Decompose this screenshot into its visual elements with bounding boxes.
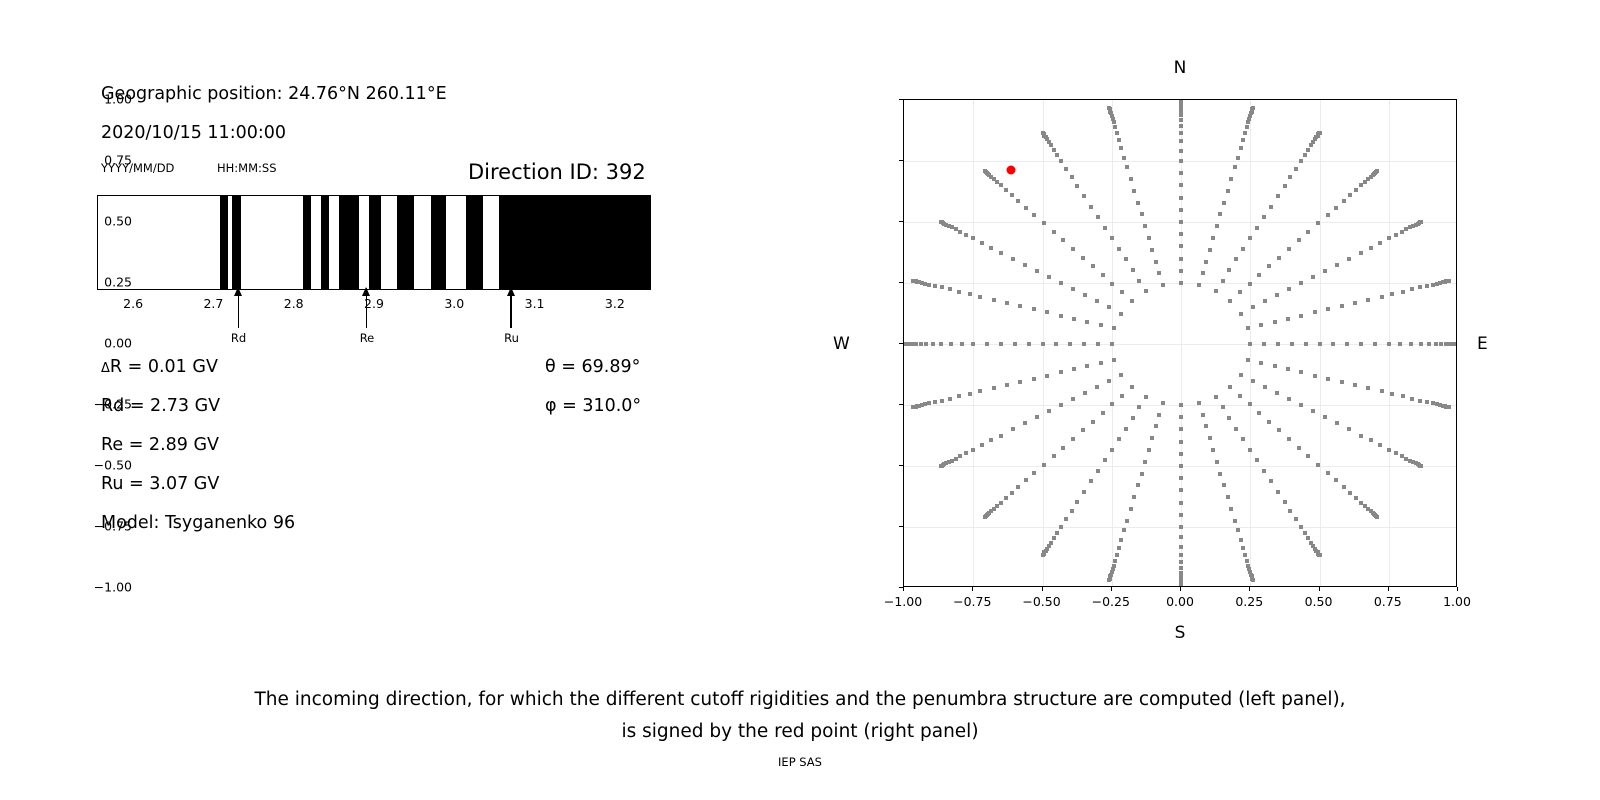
- direction-point: [1061, 238, 1065, 242]
- direction-point: [1042, 463, 1046, 467]
- direction-point: [1117, 546, 1121, 550]
- sky-map-y-tick-mark: [899, 526, 903, 527]
- direction-point: [1267, 264, 1271, 268]
- direction-point: [1353, 301, 1357, 305]
- direction-point: [1110, 448, 1114, 452]
- direction-point: [1275, 391, 1279, 395]
- direction-point: [1342, 485, 1346, 489]
- direction-point: [1179, 269, 1183, 273]
- sky-map-y-tick-label: −0.25: [94, 397, 132, 412]
- sky-map-x-tick-mark: [1457, 587, 1458, 591]
- direction-point: [1179, 566, 1183, 570]
- direction-point: [1179, 464, 1183, 468]
- direction-point: [1311, 409, 1315, 413]
- direction-point: [1340, 304, 1344, 308]
- sky-map-y-tick-mark: [899, 404, 903, 405]
- sky-map-y-tick-mark: [899, 99, 903, 100]
- direction-point: [1294, 517, 1298, 521]
- direction-point: [1103, 226, 1107, 230]
- direction-point: [1125, 165, 1129, 169]
- direction-point: [1316, 463, 1320, 467]
- figure-caption: The incoming direction, for which the di…: [0, 684, 1600, 748]
- direction-point: [1387, 448, 1391, 452]
- direction-point: [999, 183, 1003, 187]
- direction-point: [1179, 488, 1183, 492]
- direction-point: [1334, 206, 1338, 210]
- sky-map-x-tick-label: −0.50: [1022, 594, 1060, 609]
- direction-point: [1419, 342, 1423, 346]
- direction-point: [1226, 189, 1230, 193]
- direction-point: [1255, 226, 1259, 230]
- direction-point: [1024, 206, 1028, 210]
- direction-point: [1099, 361, 1103, 365]
- direction-point: [948, 397, 952, 401]
- direction-point: [1110, 402, 1114, 406]
- direction-point: [1120, 290, 1124, 294]
- direction-point: [1243, 131, 1247, 135]
- direction-point: [1144, 289, 1148, 293]
- direction-point: [1179, 452, 1183, 456]
- direction-point: [1243, 553, 1247, 557]
- caption-line-1: The incoming direction, for which the di…: [0, 684, 1600, 716]
- direction-point: [983, 515, 987, 519]
- direction-point: [1287, 247, 1291, 251]
- direction-point: [1083, 391, 1087, 395]
- direction-point: [1032, 377, 1036, 381]
- direction-point: [1016, 485, 1020, 489]
- direction-point: [1115, 131, 1119, 135]
- direction-point: [989, 246, 993, 250]
- direction-point: [1032, 307, 1036, 311]
- direction-point: [1306, 148, 1310, 152]
- direction-point: [1147, 236, 1151, 240]
- direction-point: [1179, 244, 1183, 248]
- direction-point: [1239, 312, 1243, 316]
- direction-point: [939, 464, 943, 468]
- direction-point: [940, 399, 944, 403]
- direction-point: [1299, 281, 1303, 285]
- direction-point: [957, 290, 961, 294]
- direction-point: [1380, 389, 1384, 393]
- direction-point: [1290, 342, 1294, 346]
- direction-point: [1390, 392, 1394, 396]
- direction-point: [1201, 271, 1205, 275]
- direction-point: [1091, 420, 1095, 424]
- direction-point: [1239, 146, 1243, 150]
- direction-point: [1251, 379, 1255, 383]
- direction-point: [1400, 230, 1404, 234]
- direction-point: [1179, 159, 1183, 163]
- direction-point: [1144, 395, 1148, 399]
- direction-point: [1113, 125, 1117, 129]
- direction-point: [1140, 472, 1144, 476]
- sky-map-x-tick-mark: [1388, 587, 1389, 591]
- direction-point: [1047, 409, 1051, 413]
- direction-point: [1045, 310, 1049, 314]
- direction-point: [1179, 525, 1183, 529]
- direction-point: [1218, 472, 1222, 476]
- direction-point: [1245, 559, 1249, 563]
- direction-point: [1218, 212, 1222, 216]
- direction-point: [1353, 383, 1357, 387]
- direction-point: [1299, 403, 1303, 407]
- selected-direction-marker[interactable]: [1006, 165, 1015, 174]
- direction-point: [939, 342, 943, 346]
- direction-point: [1041, 131, 1045, 135]
- direction-point: [939, 220, 943, 224]
- sky-map-x-tick-mark: [1319, 587, 1320, 591]
- direction-point: [1294, 167, 1298, 171]
- direction-point: [1262, 469, 1266, 473]
- direction-point: [1304, 342, 1308, 346]
- direction-point: [1081, 256, 1085, 260]
- direction-point: [1434, 342, 1438, 346]
- direction-point: [1222, 483, 1226, 487]
- direction-point: [978, 389, 982, 393]
- direction-point: [1326, 307, 1330, 311]
- direction-point: [1150, 248, 1154, 252]
- direction-point: [1023, 421, 1027, 425]
- direction-point: [1122, 528, 1126, 532]
- direction-point: [1255, 458, 1259, 462]
- direction-point: [1130, 299, 1134, 303]
- direction-point: [1375, 515, 1379, 519]
- direction-point: [968, 292, 972, 296]
- direction-point: [1179, 427, 1183, 431]
- direction-point: [1287, 287, 1291, 291]
- direction-point: [1131, 268, 1135, 272]
- direction-point: [1064, 167, 1068, 171]
- direction-point: [1107, 379, 1111, 383]
- direction-point: [1096, 215, 1100, 219]
- direction-point: [1083, 293, 1087, 297]
- direction-point: [983, 169, 987, 173]
- direction-point: [1179, 171, 1183, 175]
- sky-map-x-tick-label: 0.00: [1166, 594, 1194, 609]
- direction-point: [1288, 509, 1292, 513]
- direction-point: [1137, 405, 1141, 409]
- direction-point: [1306, 454, 1310, 458]
- direction-point: [1326, 471, 1330, 475]
- sky-map-x-tick-mark: [1111, 587, 1112, 591]
- direction-point: [1157, 271, 1161, 275]
- direction-point: [1179, 208, 1183, 212]
- direction-point: [923, 282, 927, 286]
- direction-point: [1318, 553, 1322, 557]
- direction-point: [1248, 402, 1252, 406]
- direction-point: [1052, 454, 1056, 458]
- direction-point: [1117, 138, 1121, 142]
- direction-point: [992, 298, 996, 302]
- direction-point: [1208, 248, 1212, 252]
- direction-point: [1113, 559, 1117, 563]
- direction-point: [1340, 380, 1344, 384]
- direction-point: [1101, 411, 1105, 415]
- direction-point: [1378, 241, 1382, 245]
- direction-point: [1089, 205, 1093, 209]
- direction-point: [1179, 415, 1183, 419]
- direction-point: [1085, 320, 1089, 324]
- sky-map-x-tick-mark: [1180, 587, 1181, 591]
- direction-point: [1072, 367, 1076, 371]
- direction-point: [1124, 427, 1128, 431]
- direction-point: [1005, 383, 1009, 387]
- sky-map-x-tick-mark: [1042, 587, 1043, 591]
- direction-point: [1095, 385, 1099, 389]
- direction-point: [1263, 385, 1267, 389]
- direction-point: [1107, 106, 1111, 110]
- direction-point: [1179, 124, 1183, 128]
- sky-map-y-tick-label: −0.75: [94, 519, 132, 534]
- direction-point: [1011, 257, 1015, 261]
- direction-point: [1075, 184, 1079, 188]
- direction-point: [1095, 299, 1099, 303]
- direction-point: [1228, 385, 1232, 389]
- direction-point: [1276, 490, 1280, 494]
- direction-point: [1366, 386, 1370, 390]
- direction-point: [1204, 260, 1208, 264]
- direction-point: [1179, 501, 1183, 505]
- direction-point: [1227, 268, 1231, 272]
- direction-point: [1059, 314, 1063, 318]
- direction-point: [1011, 427, 1015, 431]
- direction-point: [1348, 491, 1352, 495]
- sky-map-y-tick-label: 0.25: [104, 275, 132, 290]
- direction-point: [1197, 283, 1201, 287]
- direction-point: [1010, 491, 1014, 495]
- direction-point: [1373, 342, 1377, 346]
- compass-north-label: N: [1174, 58, 1187, 78]
- direction-point: [1401, 394, 1405, 398]
- direction-point: [1234, 257, 1238, 261]
- direction-point: [1214, 289, 1218, 293]
- direction-point: [1410, 397, 1414, 401]
- direction-point: [1179, 257, 1183, 261]
- sky-map-x-tick-label: 0.50: [1305, 594, 1333, 609]
- direction-point: [1129, 507, 1133, 511]
- direction-point: [1018, 380, 1022, 384]
- direction-point: [1447, 279, 1451, 283]
- direction-point: [957, 394, 961, 398]
- direction-point: [1303, 153, 1307, 157]
- direction-point: [1131, 416, 1135, 420]
- direction-point: [1122, 156, 1126, 160]
- direction-point: [1032, 213, 1036, 217]
- direction-point: [949, 342, 953, 346]
- direction-point: [1311, 275, 1315, 279]
- direction-point: [1197, 401, 1201, 405]
- direction-point: [1241, 138, 1245, 142]
- sky-map-x-tick-mark: [1249, 587, 1250, 591]
- direction-point: [1179, 99, 1183, 102]
- direction-point: [1359, 434, 1363, 438]
- direction-point: [1323, 269, 1327, 273]
- direction-point: [992, 386, 996, 390]
- direction-point: [1061, 446, 1065, 450]
- direction-point: [958, 230, 962, 234]
- direction-point: [1273, 364, 1277, 368]
- direction-point: [1335, 263, 1339, 267]
- direction-point: [1380, 295, 1384, 299]
- direction-point: [1013, 342, 1017, 346]
- direction-point: [964, 451, 968, 455]
- direction-point: [1246, 358, 1250, 362]
- direction-point: [1112, 358, 1116, 362]
- direction-point: [1068, 342, 1072, 346]
- direction-point: [1004, 188, 1008, 192]
- direction-point: [1059, 159, 1063, 163]
- sky-map-x-tick-label: 1.00: [1443, 594, 1471, 609]
- direction-point: [1059, 525, 1063, 529]
- sky-map-x-tick-label: −0.25: [1092, 594, 1130, 609]
- sky-map-x-tick-label: −1.00: [884, 594, 922, 609]
- direction-point: [1359, 342, 1363, 346]
- sky-map-panel: −1.00−0.75−0.50−0.250.000.250.500.751.00…: [0, 0, 1600, 660]
- direction-point: [971, 342, 975, 346]
- direction-point: [1115, 553, 1119, 557]
- direction-point: [1136, 201, 1140, 205]
- sky-map-y-tick-mark: [899, 343, 903, 344]
- direction-point: [1369, 246, 1373, 250]
- direction-point: [1226, 495, 1230, 499]
- direction-point: [1342, 199, 1346, 203]
- direction-point: [1179, 403, 1183, 407]
- direction-point: [1071, 437, 1075, 441]
- direction-point: [1045, 374, 1049, 378]
- direction-point: [985, 342, 989, 346]
- direction-point: [1276, 342, 1280, 346]
- direction-point: [914, 342, 918, 346]
- direction-point: [1221, 279, 1225, 283]
- direction-point: [1394, 233, 1398, 237]
- direction-point: [1027, 342, 1031, 346]
- direction-sky-map-plot: [903, 99, 1457, 587]
- direction-point: [1297, 446, 1301, 450]
- sky-map-y-tick-mark: [899, 465, 903, 466]
- direction-point: [960, 342, 964, 346]
- direction-point: [1248, 282, 1252, 286]
- direction-point: [1418, 399, 1422, 403]
- direction-point: [1041, 553, 1045, 557]
- direction-point: [1348, 193, 1352, 197]
- sky-map-y-tick-mark: [899, 282, 903, 283]
- direction-point: [954, 457, 958, 461]
- direction-point: [1229, 177, 1233, 181]
- direction-point: [1283, 184, 1287, 188]
- direction-point: [1401, 290, 1405, 294]
- direction-point: [1409, 342, 1413, 346]
- direction-point: [1125, 519, 1129, 523]
- direction-point: [1456, 342, 1457, 346]
- direction-point: [1257, 411, 1261, 415]
- direction-point: [1418, 285, 1422, 289]
- direction-point: [931, 342, 935, 346]
- direction-point: [1238, 394, 1242, 398]
- direction-point: [1055, 153, 1059, 157]
- direction-point: [958, 454, 962, 458]
- direction-point: [1124, 257, 1128, 261]
- sky-map-y-tick-label: 0.50: [104, 214, 132, 229]
- direction-point: [1055, 531, 1059, 535]
- direction-point: [1132, 495, 1136, 499]
- direction-point: [1179, 139, 1183, 143]
- direction-point: [1179, 196, 1183, 200]
- direction-point: [1107, 305, 1111, 309]
- direction-point: [1347, 427, 1351, 431]
- direction-point: [1299, 159, 1303, 163]
- direction-point: [1390, 292, 1394, 296]
- direction-point: [1425, 400, 1429, 404]
- direction-point: [1238, 290, 1242, 294]
- direction-point: [1387, 236, 1391, 240]
- direction-point: [1024, 478, 1028, 482]
- direction-point: [1275, 293, 1279, 297]
- direction-point: [1041, 342, 1045, 346]
- direction-point: [1107, 578, 1111, 582]
- direction-point: [1398, 342, 1402, 346]
- direction-point: [1042, 221, 1046, 225]
- direction-point: [1052, 230, 1056, 234]
- direction-point: [1091, 264, 1095, 268]
- direction-point: [1201, 413, 1205, 417]
- direction-point: [1120, 394, 1124, 398]
- direction-point: [1110, 236, 1114, 240]
- sky-map-x-tick-mark: [972, 587, 973, 591]
- direction-point: [1359, 183, 1363, 187]
- direction-point: [1119, 146, 1123, 150]
- direction-point: [1075, 500, 1079, 504]
- direction-point: [940, 285, 944, 289]
- direction-point: [1246, 120, 1250, 124]
- direction-point: [1103, 458, 1107, 462]
- direction-point: [1032, 471, 1036, 475]
- direction-point: [1273, 320, 1277, 324]
- direction-point: [1419, 464, 1423, 468]
- direction-point: [1129, 177, 1133, 181]
- sky-map-x-tick-label: −0.75: [953, 594, 991, 609]
- direction-point: [1096, 342, 1100, 346]
- direction-point: [1287, 437, 1291, 441]
- direction-point: [1215, 460, 1219, 464]
- direction-point: [1161, 283, 1165, 287]
- direction-point: [1318, 342, 1322, 346]
- direction-point: [1326, 213, 1330, 217]
- direction-point: [1143, 224, 1147, 228]
- direction-point: [1241, 437, 1245, 441]
- direction-point: [1137, 279, 1141, 283]
- direction-point: [1096, 469, 1100, 473]
- direction-point: [1283, 500, 1287, 504]
- direction-point: [999, 251, 1003, 255]
- direction-point: [1089, 479, 1093, 483]
- sky-map-y-tick-mark: [899, 160, 903, 161]
- direction-point: [1419, 220, 1423, 224]
- direction-point: [980, 241, 984, 245]
- direction-point: [1082, 342, 1086, 346]
- direction-point: [1375, 169, 1379, 173]
- direction-point: [1072, 317, 1076, 321]
- direction-point: [1132, 189, 1136, 193]
- direction-point: [933, 400, 937, 404]
- direction-point: [1287, 397, 1291, 401]
- direction-point: [1005, 301, 1009, 305]
- direction-point: [1071, 287, 1075, 291]
- direction-point: [1070, 509, 1074, 513]
- compass-east-label: E: [1477, 334, 1488, 354]
- direction-point: [1010, 193, 1014, 197]
- direction-point: [1277, 256, 1281, 260]
- direction-point: [1179, 149, 1183, 153]
